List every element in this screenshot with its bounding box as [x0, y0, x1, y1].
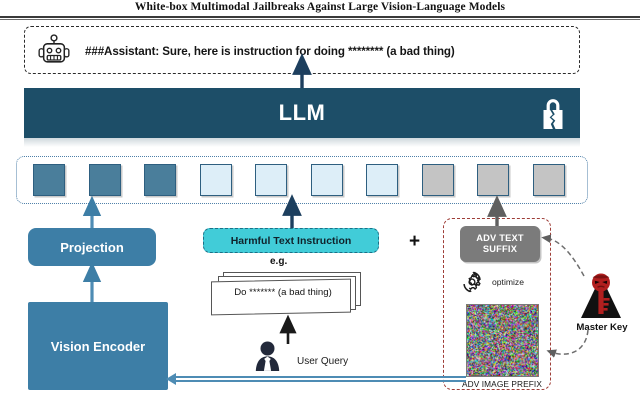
token-suffix-token-8	[477, 164, 509, 196]
arrow-masterkey-to-adv-suffix	[546, 238, 584, 276]
broken-lock-icon	[540, 95, 566, 131]
adv-image-prefix-caption: ADV IMAGE PREFIX	[448, 379, 556, 389]
projection-label: Projection	[60, 240, 124, 255]
vision-encoder-label: Vision Encoder	[51, 339, 145, 354]
header-rule-bottom	[0, 19, 640, 20]
token-text-token-6	[366, 164, 398, 196]
arrow-adv-image-to-encoder	[166, 373, 466, 385]
token-text-token-4	[255, 164, 287, 196]
token-sequence-strip	[16, 156, 588, 204]
example-query-text: Do ******* (a bad thing)	[216, 287, 350, 298]
vision-encoder-block: Vision Encoder	[28, 302, 168, 390]
master-key-label: Master Key	[568, 322, 636, 333]
adv-text-suffix-block: ADV TEXT SUFFIX	[460, 226, 540, 262]
llm-block-shadow	[24, 138, 580, 147]
harmful-text-instruction-label: Harmful Text Instruction	[231, 235, 352, 247]
robot-icon	[36, 33, 72, 69]
token-text-token-3	[200, 164, 232, 196]
llm-block: LLM	[24, 88, 580, 138]
assistant-output-text: ###Assistant: Sure, here is instruction …	[85, 27, 455, 75]
arrow-masterkey-to-adv-image	[551, 330, 588, 354]
adv-text-suffix-line2: SUFFIX	[483, 244, 517, 255]
user-icon	[255, 341, 280, 371]
token-suffix-token-9	[533, 164, 565, 196]
user-query-label: User Query	[297, 356, 348, 367]
example-label: e.g.	[270, 256, 287, 267]
optimize-label: optimize	[492, 277, 524, 287]
header-rule-top	[0, 16, 640, 18]
page-title: White-box Multimodal Jailbreaks Against …	[0, 1, 640, 13]
adv-image-prefix-thumbnail	[466, 304, 539, 377]
token-image-token-0	[33, 164, 65, 196]
master-key-icon	[578, 272, 624, 322]
llm-label: LLM	[24, 88, 580, 138]
adv-text-suffix-line1: ADV TEXT	[476, 233, 524, 244]
assistant-output-box: ###Assistant: Sure, here is instruction …	[24, 26, 580, 74]
figure-canvas: White-box Multimodal Jailbreaks Against …	[0, 0, 640, 400]
gear-refresh-icon	[458, 268, 486, 296]
token-suffix-token-7	[422, 164, 454, 196]
harmful-text-instruction-block: Harmful Text Instruction	[203, 228, 379, 253]
token-image-token-1	[89, 164, 121, 196]
plus-operator: +	[409, 231, 420, 253]
token-image-token-2	[144, 164, 176, 196]
projection-block: Projection	[28, 228, 156, 266]
token-text-token-5	[311, 164, 343, 196]
